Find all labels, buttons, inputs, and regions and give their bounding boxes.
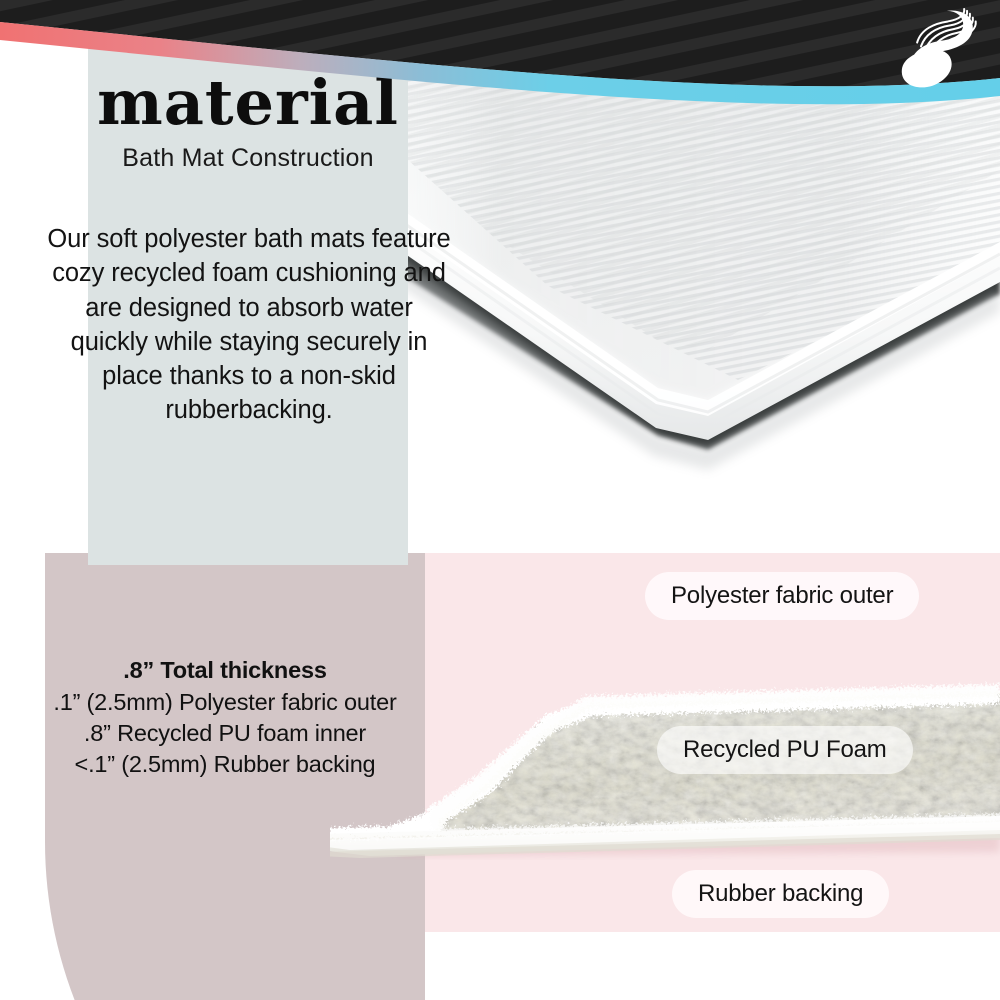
- title-block: material Bath Mat Construction: [40, 72, 456, 173]
- body-paragraph: Our soft polyester bath mats feature coz…: [46, 222, 452, 428]
- spec-line-rubber: <.1” (2.5mm) Rubber backing: [30, 749, 420, 780]
- panel-text-group: material Bath Mat Construction Our soft …: [88, 0, 408, 565]
- callout-rubber-backing: Rubber backing: [672, 870, 889, 918]
- infographic-canvas: material Bath Mat Construction Our soft …: [0, 0, 1000, 1000]
- callout-recycled-pu-foam: Recycled PU Foam: [657, 726, 913, 774]
- bath-mat-corner-photo: [408, 50, 1000, 510]
- thickness-spec-block: .8” Total thickness .1” (2.5mm) Polyeste…: [30, 655, 420, 780]
- spec-line-outer: .1” (2.5mm) Polyester fabric outer: [30, 687, 420, 718]
- callout-polyester-fabric-outer: Polyester fabric outer: [645, 572, 919, 620]
- page-title: material: [40, 72, 456, 134]
- spec-line-foam: .8” Recycled PU foam inner: [30, 718, 420, 749]
- page-subtitle: Bath Mat Construction: [40, 144, 456, 173]
- spec-total-thickness: .8” Total thickness: [30, 655, 420, 685]
